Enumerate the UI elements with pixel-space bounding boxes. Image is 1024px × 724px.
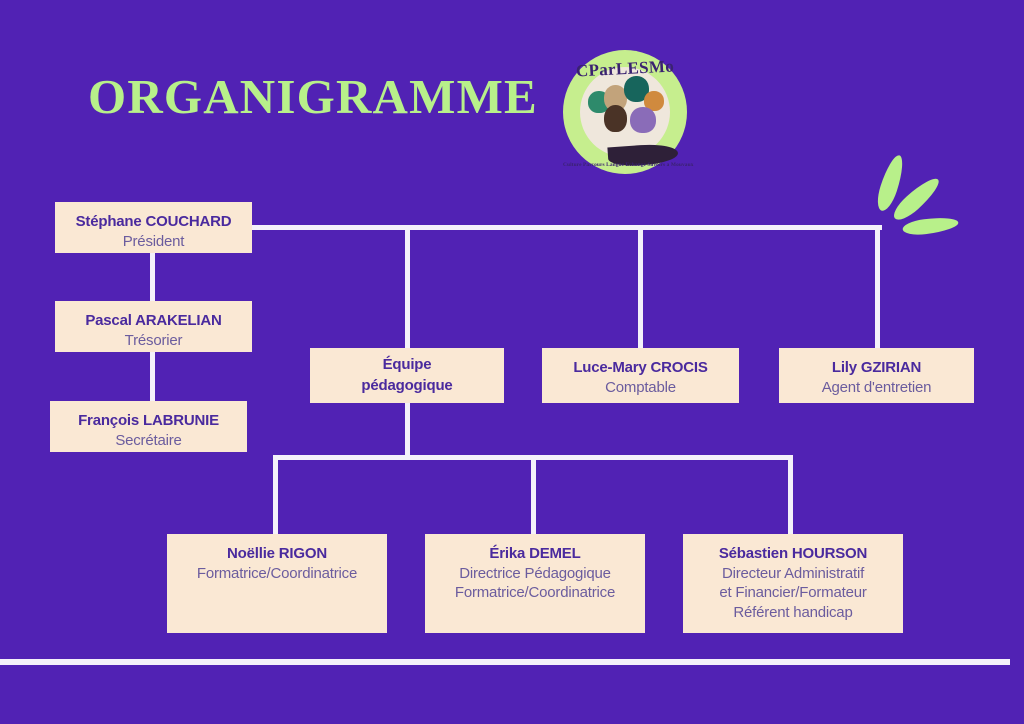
- org-node-agent-entretien[interactable]: Lily GZIRIAN Agent d'entretien: [779, 348, 974, 403]
- organigramme-poster: ORGANIGRAMME CParLESMo Culture Parcours …: [0, 0, 1024, 724]
- node-role: Formatrice/Coordinatrice: [197, 564, 357, 584]
- node-name: Pascal ARAKELIAN: [85, 311, 221, 331]
- decorative-petals: [868, 150, 998, 245]
- node-role: Comptable: [605, 378, 676, 398]
- node-role: Secrétaire: [115, 431, 181, 451]
- bottom-divider: [0, 659, 1010, 665]
- node-role: Président: [123, 232, 185, 252]
- org-node-rigon[interactable]: Noëllie RIGON Formatrice/Coordinatrice: [167, 534, 387, 633]
- node-role: Trésorier: [125, 331, 183, 351]
- connector-bus-hourson: [788, 455, 793, 534]
- node-name: Équipe: [383, 355, 432, 376]
- org-node-hourson[interactable]: Sébastien HOURSON Directeur Administrati…: [683, 534, 903, 633]
- connector-bus-demel: [531, 455, 536, 534]
- page-title: ORGANIGRAMME: [88, 68, 538, 125]
- node-name: François LABRUNIE: [78, 411, 219, 431]
- node-name: Érika DEMEL: [489, 544, 580, 564]
- node-role: Directrice Pédagogique: [459, 564, 611, 584]
- speech-bubble-purple: [630, 107, 656, 133]
- node-role: Formatrice/Coordinatrice: [455, 583, 615, 603]
- node-name: Sébastien HOURSON: [719, 544, 867, 564]
- connector-bus-rigon: [273, 455, 278, 534]
- node-name: Stéphane COUCHARD: [76, 212, 232, 232]
- association-logo: CParLESMo Culture Parcours Langue Echang…: [563, 50, 687, 174]
- node-role: Référent handicap: [733, 603, 852, 623]
- petal-shape: [902, 215, 959, 237]
- org-node-tresorier[interactable]: Pascal ARAKELIAN Trésorier: [55, 301, 252, 352]
- node-role: pédagogique: [361, 376, 452, 397]
- connector-bus-comptable: [638, 225, 643, 348]
- connector-bus-entretien: [875, 225, 880, 348]
- org-node-demel[interactable]: Érika DEMEL Directrice Pédagogique Forma…: [425, 534, 645, 633]
- connector-equipe-drop: [405, 403, 410, 458]
- org-node-equipe-pedagogique[interactable]: Équipe pédagogique: [310, 348, 504, 403]
- speech-bubble-brown: [604, 105, 627, 132]
- node-role: Directeur Administratif: [722, 564, 864, 584]
- node-name: Luce-Mary CROCIS: [573, 358, 707, 378]
- node-role: Agent d'entretien: [822, 378, 932, 398]
- node-role: et Financier/Formateur: [719, 583, 866, 603]
- logo-tagline: Culture Parcours Langue Echange Savoirs …: [563, 162, 687, 168]
- node-name: Noëllie RIGON: [227, 544, 327, 564]
- node-name: Lily GZIRIAN: [832, 358, 921, 378]
- org-node-president[interactable]: Stéphane COUCHARD Président: [55, 202, 252, 253]
- connector-tresorier-secretaire: [150, 352, 155, 401]
- org-node-comptable[interactable]: Luce-Mary CROCIS Comptable: [542, 348, 739, 403]
- connector-president-tresorier: [150, 253, 155, 301]
- connector-bus-equipe: [405, 225, 410, 348]
- connector-president-bus: [252, 225, 882, 230]
- org-node-secretaire[interactable]: François LABRUNIE Secrétaire: [50, 401, 247, 452]
